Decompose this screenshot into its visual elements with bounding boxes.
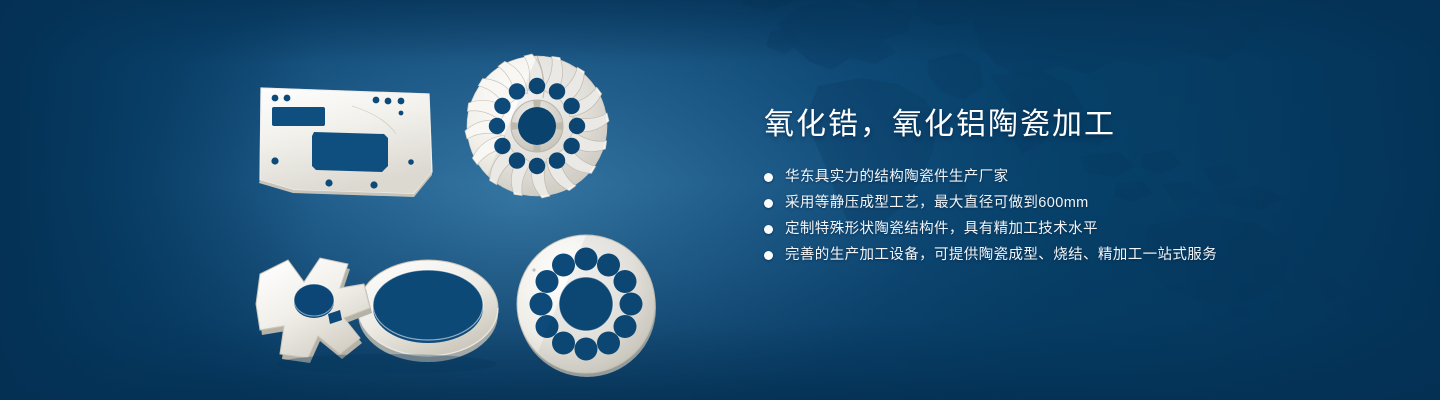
ceramic-cross-and-ring bbox=[246, 226, 516, 376]
list-item: 采用等静压成型工艺，最大直径可做到600mm bbox=[764, 192, 1384, 215]
product-montage bbox=[238, 36, 688, 386]
list-item: 华东具实力的结构陶瓷件生产厂家 bbox=[764, 166, 1384, 189]
list-item: 完善的生产加工设备，可提供陶瓷成型、烧结、精加工一站式服务 bbox=[764, 244, 1384, 267]
bullet-dot-icon bbox=[764, 199, 773, 208]
banner-copy: 氧化锆，氧化铝陶瓷加工 华东具实力的结构陶瓷件生产厂家 采用等静压成型工艺，最大… bbox=[764, 106, 1384, 270]
promo-banner: 氧化锆，氧化铝陶瓷加工 华东具实力的结构陶瓷件生产厂家 采用等静压成型工艺，最大… bbox=[0, 0, 1440, 400]
list-item-label: 完善的生产加工设备，可提供陶瓷成型、烧结、精加工一站式服务 bbox=[785, 248, 1217, 263]
ceramic-impeller-disc bbox=[448, 42, 626, 214]
ceramic-machined-plate bbox=[256, 80, 434, 200]
feature-list: 华东具实力的结构陶瓷件生产厂家 采用等静压成型工艺，最大直径可做到600mm 定… bbox=[764, 166, 1384, 267]
bullet-dot-icon bbox=[764, 225, 773, 234]
list-item-label: 采用等静压成型工艺，最大直径可做到600mm bbox=[785, 196, 1089, 211]
ceramic-perforated-disc bbox=[510, 228, 662, 380]
page-title: 氧化锆，氧化铝陶瓷加工 bbox=[764, 106, 1384, 144]
bullet-dot-icon bbox=[764, 251, 773, 260]
list-item: 定制特殊形状陶瓷结构件，具有精加工技术水平 bbox=[764, 218, 1384, 241]
list-item-label: 定制特殊形状陶瓷结构件，具有精加工技术水平 bbox=[785, 222, 1098, 237]
list-item-label: 华东具实力的结构陶瓷件生产厂家 bbox=[785, 170, 1009, 185]
bullet-dot-icon bbox=[764, 173, 773, 182]
